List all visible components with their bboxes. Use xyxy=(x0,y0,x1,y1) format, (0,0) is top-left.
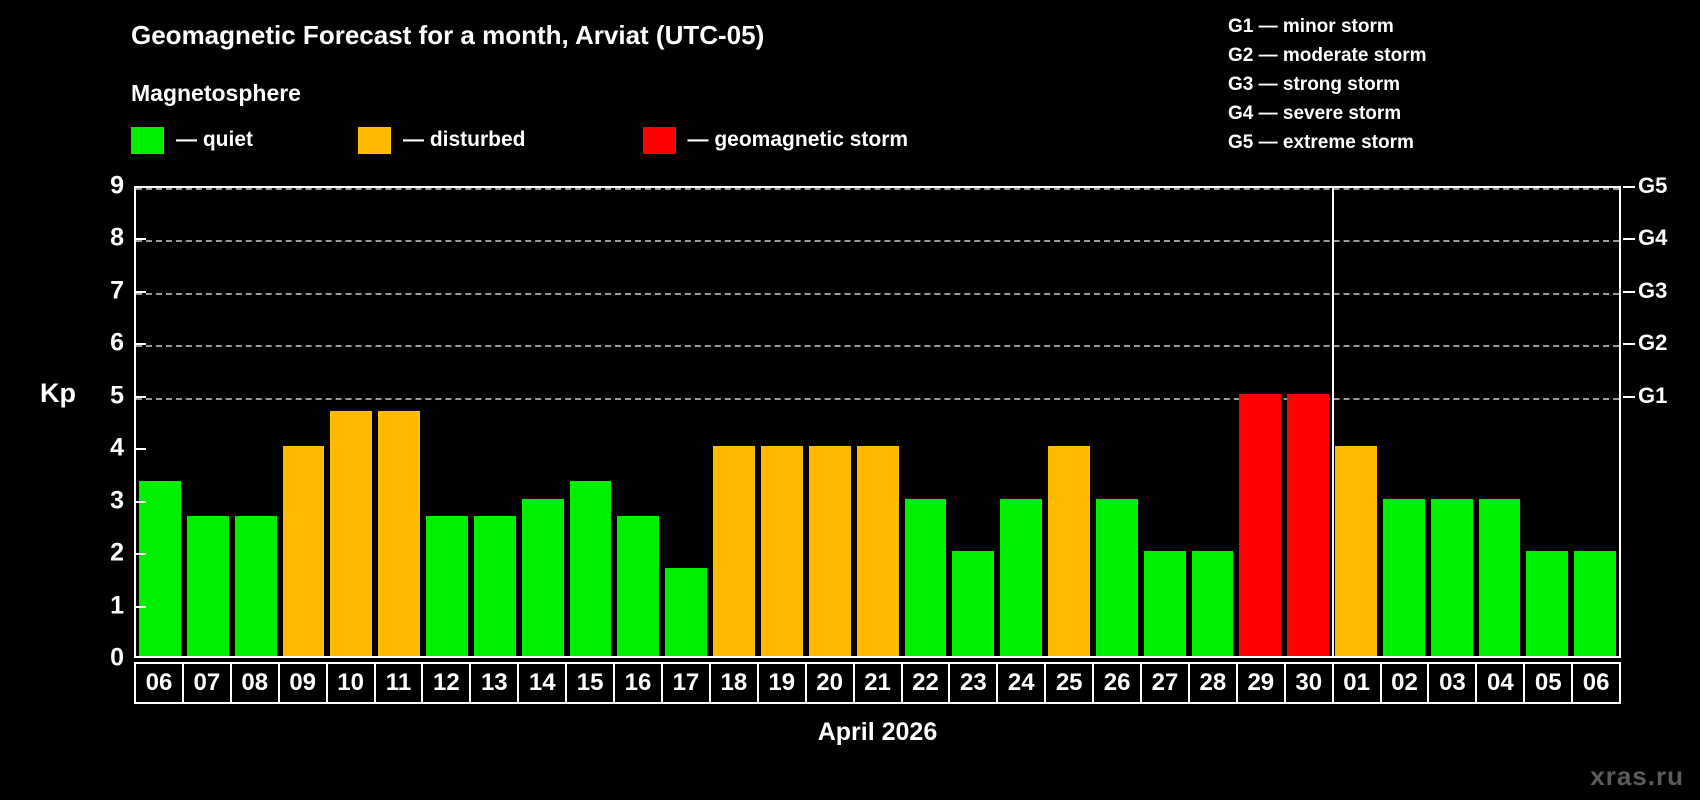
day-cell-27[interactable]: 03 xyxy=(1427,662,1477,704)
day-cell-7[interactable]: 13 xyxy=(469,662,519,704)
day-cell-26[interactable]: 02 xyxy=(1380,662,1430,704)
bar-slot-15[interactable] xyxy=(567,188,615,656)
bar-slot-26[interactable] xyxy=(1093,188,1141,656)
day-cell-20[interactable]: 26 xyxy=(1092,662,1142,704)
day-label: 27 xyxy=(1152,671,1179,695)
bar-slot-19[interactable] xyxy=(758,188,806,656)
legend-label-storm: — geomagnetic storm xyxy=(688,128,909,152)
y-axis-title: Kp xyxy=(40,378,76,409)
bar-slot-04[interactable] xyxy=(1476,188,1524,656)
y-tick-mark-7 xyxy=(134,291,146,293)
day-cell-11[interactable]: 17 xyxy=(661,662,711,704)
day-cell-29[interactable]: 05 xyxy=(1523,662,1573,704)
bar-slot-03[interactable] xyxy=(1428,188,1476,656)
bar-21-disturbed[interactable] xyxy=(857,446,899,656)
day-label: 18 xyxy=(720,671,747,695)
bar-slot-28[interactable] xyxy=(1189,188,1237,656)
day-label: 10 xyxy=(337,671,364,695)
bar-01-disturbed[interactable] xyxy=(1335,446,1377,656)
bar-25-disturbed[interactable] xyxy=(1048,446,1090,656)
bar-17-quiet[interactable] xyxy=(665,568,707,656)
bar-slot-24[interactable] xyxy=(997,188,1045,656)
day-label: 30 xyxy=(1295,671,1322,695)
bar-05-quiet[interactable] xyxy=(1526,551,1568,656)
day-axis: 0607080910111213141516171819202122232425… xyxy=(134,662,1621,704)
bar-04-quiet[interactable] xyxy=(1479,499,1521,656)
y-tick-label-3: 3 xyxy=(110,486,124,515)
y-tick-mark-1 xyxy=(134,606,146,608)
g-legend-row-1: G1 — minor storm xyxy=(1228,12,1427,41)
y-tick-label-7: 7 xyxy=(110,276,124,305)
day-label: 07 xyxy=(194,671,221,695)
g-scale-legend: G1 — minor stormG2 — moderate stormG3 — … xyxy=(1228,12,1427,157)
bar-slot-10[interactable] xyxy=(327,188,375,656)
g-tick-label-G3: G3 xyxy=(1638,278,1667,304)
day-cell-2[interactable]: 08 xyxy=(230,662,280,704)
bar-16-quiet[interactable] xyxy=(617,516,659,656)
day-cell-9[interactable]: 15 xyxy=(565,662,615,704)
bar-27-quiet[interactable] xyxy=(1144,551,1186,656)
bar-slot-08[interactable] xyxy=(232,188,280,656)
g-tick-mark-G4 xyxy=(1623,238,1635,240)
bar-20-disturbed[interactable] xyxy=(809,446,851,656)
day-label: 06 xyxy=(146,671,173,695)
g-tick-mark-G1 xyxy=(1623,396,1635,398)
day-label: 06 xyxy=(1583,671,1610,695)
g-tick-label-G1: G1 xyxy=(1638,383,1667,409)
legend-label-disturbed: — disturbed xyxy=(403,128,526,152)
bar-12-quiet[interactable] xyxy=(426,516,468,656)
y-tick-mark-2 xyxy=(134,553,146,555)
g-tick-mark-G3 xyxy=(1623,291,1635,293)
day-label: 02 xyxy=(1391,671,1418,695)
month-divider-line xyxy=(1332,188,1334,656)
y-tick-mark-4 xyxy=(134,448,146,450)
x-axis-title: April 2026 xyxy=(134,718,1621,747)
legend-swatch-storm xyxy=(643,127,676,154)
y-tick-label-6: 6 xyxy=(110,329,124,358)
bar-28-quiet[interactable] xyxy=(1192,551,1234,656)
day-label: 25 xyxy=(1056,671,1083,695)
day-cell-10[interactable]: 16 xyxy=(613,662,663,704)
y-tick-mark-3 xyxy=(134,501,146,503)
bar-slot-25[interactable] xyxy=(1045,188,1093,656)
g-tick-label-G4: G4 xyxy=(1638,225,1667,251)
page-title: Geomagnetic Forecast for a month, Arviat… xyxy=(131,20,764,51)
day-cell-25[interactable]: 01 xyxy=(1332,662,1382,704)
y-tick-mark-6 xyxy=(134,343,146,345)
bar-23-quiet[interactable] xyxy=(952,551,994,656)
bar-06-quiet[interactable] xyxy=(1574,551,1616,656)
day-label: 09 xyxy=(289,671,316,695)
bar-30-storm[interactable] xyxy=(1287,394,1329,656)
bar-26-quiet[interactable] xyxy=(1096,499,1138,656)
day-cell-0[interactable]: 06 xyxy=(134,662,184,704)
bar-14-quiet[interactable] xyxy=(522,499,564,656)
bar-slot-06[interactable] xyxy=(1571,188,1619,656)
watermark: xras.ru xyxy=(1590,761,1684,792)
day-cell-16[interactable]: 22 xyxy=(901,662,951,704)
day-cell-17[interactable]: 23 xyxy=(948,662,998,704)
y-tick-mark-9 xyxy=(134,186,146,188)
bar-slot-30[interactable] xyxy=(1284,188,1332,656)
day-label: 01 xyxy=(1343,671,1370,695)
day-label: 22 xyxy=(912,671,939,695)
y-axis-labels: 0123456789 xyxy=(80,186,124,658)
bar-slot-23[interactable] xyxy=(949,188,997,656)
y-tick-label-8: 8 xyxy=(110,224,124,253)
legend-label-quiet: — quiet xyxy=(176,128,253,152)
g-tick-label-G5: G5 xyxy=(1638,173,1667,199)
bar-slot-05[interactable] xyxy=(1523,188,1571,656)
bar-18-disturbed[interactable] xyxy=(713,446,755,656)
g-tick-label-G2: G2 xyxy=(1638,330,1667,356)
y-tick-label-2: 2 xyxy=(110,539,124,568)
day-cell-8[interactable]: 14 xyxy=(517,662,567,704)
color-legend: — quiet— disturbed— geomagnetic storm xyxy=(131,125,908,155)
bar-09-disturbed[interactable] xyxy=(283,446,325,656)
day-label: 11 xyxy=(386,671,411,695)
bar-slot-07[interactable] xyxy=(184,188,232,656)
g-axis-labels: G1G2G3G4G5 xyxy=(1638,186,1698,658)
day-label: 04 xyxy=(1487,671,1514,695)
bar-22-quiet[interactable] xyxy=(905,499,947,656)
day-label: 26 xyxy=(1104,671,1131,695)
g-legend-row-4: G4 — severe storm xyxy=(1228,99,1427,128)
day-label: 15 xyxy=(577,671,604,695)
day-cell-22[interactable]: 28 xyxy=(1188,662,1238,704)
day-cell-4[interactable]: 10 xyxy=(326,662,376,704)
day-label: 13 xyxy=(481,671,508,695)
y-tick-label-4: 4 xyxy=(110,434,124,463)
bar-slot-09[interactable] xyxy=(280,188,328,656)
plot-inner xyxy=(136,188,1619,656)
day-cell-3[interactable]: 09 xyxy=(278,662,328,704)
day-label: 21 xyxy=(864,671,891,695)
g-tick-mark-G2 xyxy=(1623,343,1635,345)
day-label: 14 xyxy=(529,671,556,695)
magnetosphere-label: Magnetosphere xyxy=(131,80,301,107)
g-legend-row-3: G3 — strong storm xyxy=(1228,70,1427,99)
bar-02-quiet[interactable] xyxy=(1383,499,1425,656)
day-cell-1[interactable]: 07 xyxy=(182,662,232,704)
day-cell-24[interactable]: 30 xyxy=(1284,662,1334,704)
day-label: 05 xyxy=(1535,671,1562,695)
bar-10-disturbed[interactable] xyxy=(330,411,372,656)
bar-slot-18[interactable] xyxy=(710,188,758,656)
bar-slot-13[interactable] xyxy=(471,188,519,656)
day-label: 20 xyxy=(816,671,843,695)
y-tick-label-5: 5 xyxy=(110,381,124,410)
day-cell-30[interactable]: 06 xyxy=(1571,662,1621,704)
bar-24-quiet[interactable] xyxy=(1000,499,1042,656)
bar-19-disturbed[interactable] xyxy=(761,446,803,656)
y-tick-label-9: 9 xyxy=(110,172,124,201)
day-label: 29 xyxy=(1247,671,1274,695)
bar-03-quiet[interactable] xyxy=(1431,499,1473,656)
day-cell-18[interactable]: 24 xyxy=(996,662,1046,704)
y-tick-mark-8 xyxy=(134,238,146,240)
g-tick-mark-G5 xyxy=(1623,186,1635,188)
day-label: 12 xyxy=(433,671,460,695)
day-label: 23 xyxy=(960,671,987,695)
legend-entry-storm: — geomagnetic storm xyxy=(643,125,909,155)
day-cell-28[interactable]: 04 xyxy=(1475,662,1525,704)
day-cell-12[interactable]: 18 xyxy=(709,662,759,704)
y-tick-mark-5 xyxy=(134,396,146,398)
day-cell-14[interactable]: 20 xyxy=(805,662,855,704)
day-label: 17 xyxy=(673,671,700,695)
bar-slot-29[interactable] xyxy=(1236,188,1284,656)
day-label: 24 xyxy=(1008,671,1035,695)
legend-entry-disturbed: — disturbed xyxy=(358,125,526,155)
bar-06-quiet[interactable] xyxy=(139,481,181,656)
legend-entry-quiet: — quiet xyxy=(131,125,253,155)
bar-07-quiet[interactable] xyxy=(187,516,229,656)
bar-slot-02[interactable] xyxy=(1380,188,1428,656)
day-cell-6[interactable]: 12 xyxy=(421,662,471,704)
day-label: 08 xyxy=(241,671,268,695)
day-cell-5[interactable]: 11 xyxy=(374,662,424,704)
bar-11-disturbed[interactable] xyxy=(378,411,420,656)
day-label: 28 xyxy=(1200,671,1227,695)
bar-slot-20[interactable] xyxy=(806,188,854,656)
y-tick-label-0: 0 xyxy=(110,644,124,673)
day-label: 19 xyxy=(768,671,795,695)
bar-08-quiet[interactable] xyxy=(235,516,277,656)
bar-slot-17[interactable] xyxy=(662,188,710,656)
day-cell-23[interactable]: 29 xyxy=(1236,662,1286,704)
legend-swatch-quiet xyxy=(131,127,164,154)
bar-slot-21[interactable] xyxy=(854,188,902,656)
bar-series xyxy=(136,188,1619,656)
bar-slot-12[interactable] xyxy=(423,188,471,656)
day-cell-21[interactable]: 27 xyxy=(1140,662,1190,704)
legend-swatch-disturbed xyxy=(358,127,391,154)
day-cell-15[interactable]: 21 xyxy=(853,662,903,704)
bar-13-quiet[interactable] xyxy=(474,516,516,656)
day-cell-19[interactable]: 25 xyxy=(1044,662,1094,704)
bar-slot-01[interactable] xyxy=(1332,188,1380,656)
bar-slot-22[interactable] xyxy=(902,188,950,656)
g-legend-row-2: G2 — moderate storm xyxy=(1228,41,1427,70)
bar-slot-11[interactable] xyxy=(375,188,423,656)
bar-slot-27[interactable] xyxy=(1141,188,1189,656)
plot-area xyxy=(134,186,1621,658)
day-label: 03 xyxy=(1439,671,1466,695)
bar-slot-16[interactable] xyxy=(614,188,662,656)
day-cell-13[interactable]: 19 xyxy=(757,662,807,704)
y-tick-label-1: 1 xyxy=(110,591,124,620)
bar-29-storm[interactable] xyxy=(1239,394,1281,656)
g-legend-row-5: G5 — extreme storm xyxy=(1228,128,1427,157)
bar-slot-14[interactable] xyxy=(519,188,567,656)
bar-slot-06[interactable] xyxy=(136,188,184,656)
day-label: 16 xyxy=(625,671,652,695)
bar-15-quiet[interactable] xyxy=(570,481,612,656)
